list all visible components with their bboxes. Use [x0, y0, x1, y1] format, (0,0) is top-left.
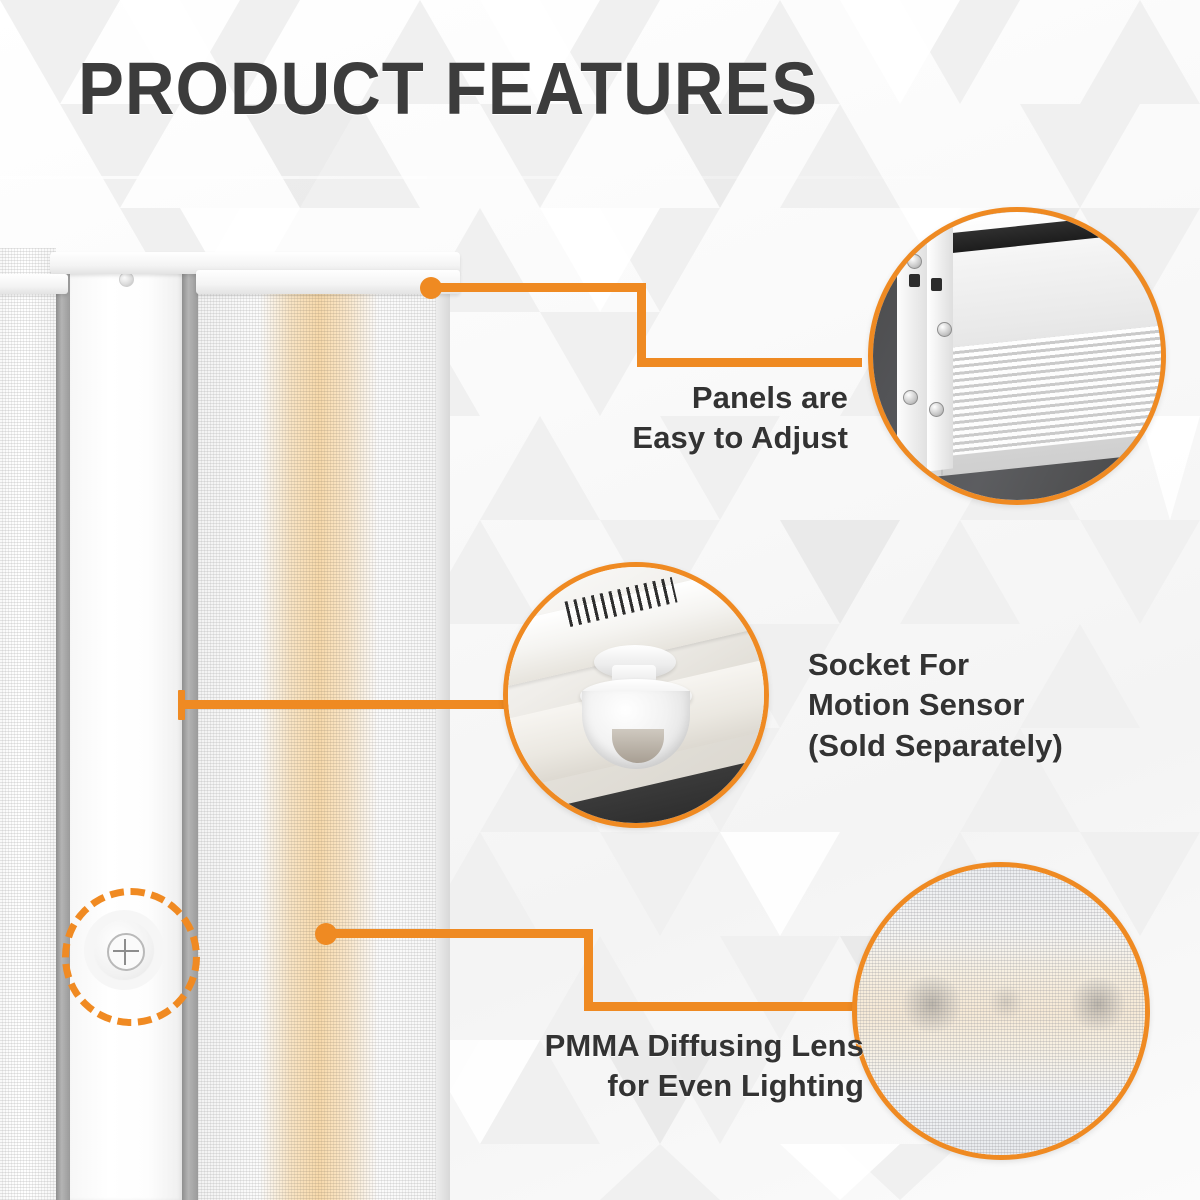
led-warm-glow [260, 292, 378, 1200]
diffuser-panel-left [0, 248, 56, 1200]
lens-led-hotspot-2 [1071, 977, 1125, 1031]
product-photo [0, 248, 460, 1200]
bracket-screw-1 [907, 254, 922, 269]
housing-screw-icon [119, 272, 134, 287]
callout-1-line-horizontal-bottom [637, 358, 862, 367]
fixture-housing-center [70, 260, 182, 1200]
lens-led-hotspot-3 [989, 985, 1023, 1019]
bracket-screw-2 [937, 322, 952, 337]
panel-edge-right [436, 292, 450, 1200]
bracket-screw-4 [929, 402, 944, 417]
mounting-rail-left [0, 274, 68, 294]
callout-label-panels-adjust: Panels are Easy to Adjust [632, 378, 848, 459]
callout-3-line-horizontal-top [325, 929, 593, 938]
callout-2-line-horizontal [182, 700, 512, 709]
bracket-screw-3 [903, 390, 918, 405]
callout-image-motion-sensor [503, 562, 769, 828]
callout-label-pmma-lens: PMMA Diffusing Lens for Even Lighting [545, 1026, 864, 1107]
lens-led-hotspot-1 [903, 975, 961, 1033]
bracket-slot-2 [931, 278, 942, 291]
callout-1-line-vertical [637, 283, 646, 367]
callout-3-line-vertical [584, 929, 593, 1011]
socket-highlight-dashed-ring [62, 888, 200, 1026]
callout-1-line-horizontal-top [430, 283, 646, 292]
callout-label-motion-sensor: Socket For Motion Sensor (Sold Separatel… [808, 645, 1063, 766]
bracket-hinge-arm [927, 220, 953, 471]
callout-3-line-horizontal-bottom [584, 1002, 864, 1011]
callout-image-panels-adjust [868, 207, 1166, 505]
callout-image-pmma-lens [852, 862, 1150, 1160]
header-accent-rule [0, 177, 1110, 191]
panel-gap-left [56, 274, 70, 1200]
page-title: PRODUCT FEATURES [78, 52, 818, 126]
product-features-infographic: PRODUCT FEATURES [0, 0, 1200, 1200]
panel-gap-right [182, 274, 198, 1200]
bracket-slot-1 [909, 274, 920, 287]
